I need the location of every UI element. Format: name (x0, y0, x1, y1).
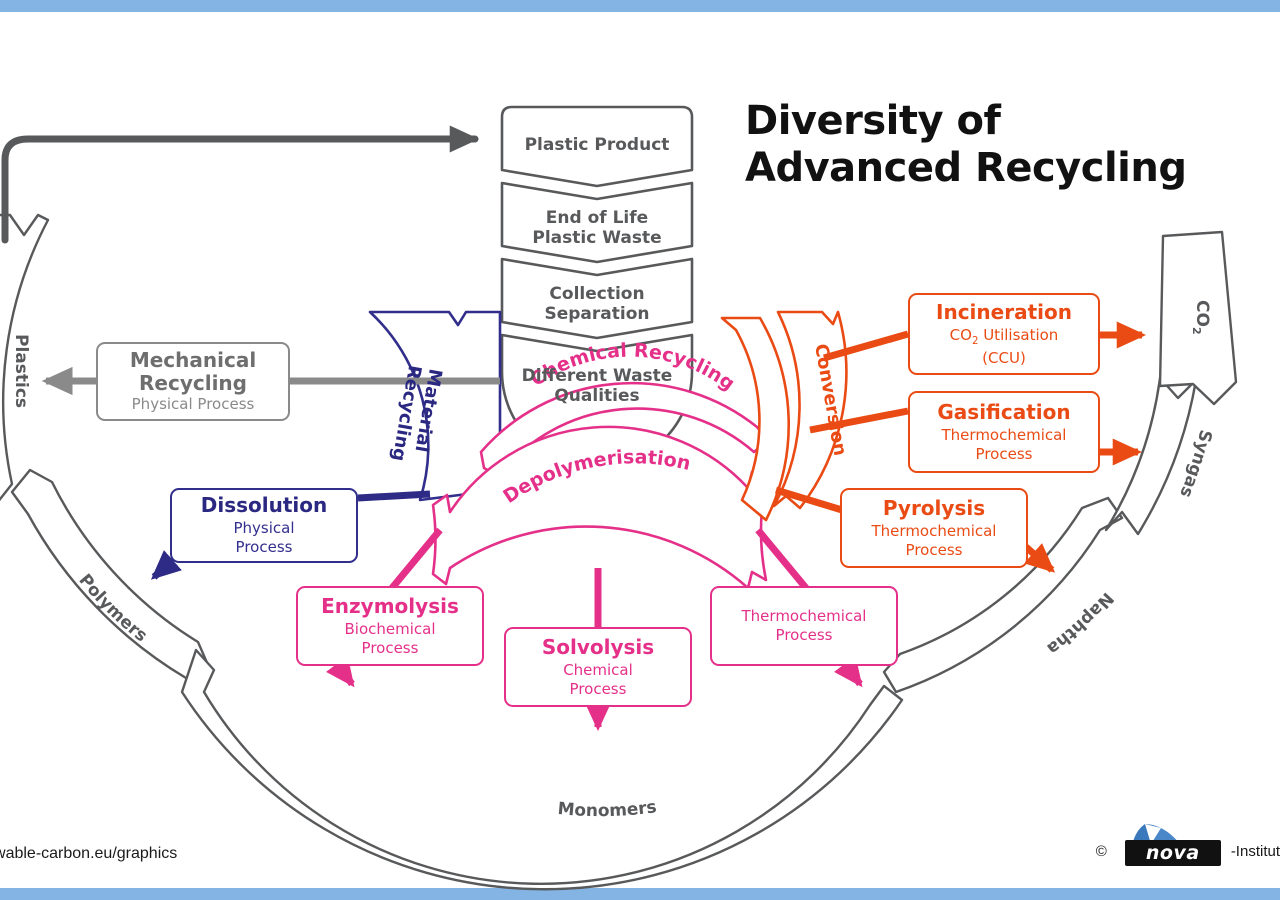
arrow-enzymolysis-to-monomers (337, 664, 352, 684)
arrow-dissolution-to-polymers (154, 561, 172, 577)
gasification-title: Gasification (937, 401, 1070, 423)
incineration-sub: CO2 Utilisation (CCU) (950, 326, 1059, 368)
chevron-collection-separation (502, 259, 692, 338)
box-gasification[interactable]: Gasification Thermochemical Process (908, 391, 1100, 473)
nova-logo-word: nova (1125, 840, 1221, 866)
incineration-title: Incineration (936, 301, 1072, 323)
box-enzymolysis[interactable]: Enzymolysis Biochemical Process (296, 586, 484, 666)
copyright-symbol: © (1096, 843, 1107, 860)
solvolysis-sub: Chemical Process (563, 661, 633, 699)
mechanical-recycling-title-l2: Recycling (130, 372, 256, 394)
box-dissolution[interactable]: Dissolution Physical Process (170, 488, 358, 563)
ring-label-monomers: Monomers (557, 797, 658, 821)
box-incineration[interactable]: Incineration CO2 Utilisation (CCU) (908, 293, 1100, 375)
ring-segment-syngas (1106, 378, 1196, 534)
dissolution-title: Dissolution (201, 494, 328, 516)
box-mechanical-recycling[interactable]: Mechanical Recycling Physical Process (96, 342, 290, 421)
connector-depoly-to-enzymolysis (392, 530, 440, 588)
ring-label-plastics: Plastics (11, 334, 31, 408)
diagram-canvas: Chemical Recycling Depolymerisation Poly… (0, 0, 1280, 900)
pyrolysis-sub: Thermochemical Process (872, 522, 997, 560)
gasification-sub: Thermochemical Process (942, 426, 1067, 464)
page-title: Diversity of Advanced Recycling (745, 98, 1187, 192)
page-title-line1: Diversity of (745, 98, 1187, 145)
nova-logo-suffix: -Institut (1231, 843, 1280, 860)
dissolution-sub: Physical Process (233, 519, 294, 557)
nova-logo: nova (1111, 834, 1227, 868)
mechanical-recycling-title-l1: Mechanical (130, 349, 256, 371)
pyrolysis-title: Pyrolysis (883, 497, 985, 519)
arrow-recycle-to-product (5, 139, 475, 240)
chevron-plastic-product (502, 107, 692, 186)
enzymolysis-title: Enzymolysis (321, 595, 459, 617)
box-pyrolysis[interactable]: Pyrolysis Thermochemical Process (840, 488, 1028, 568)
solvolysis-title: Solvolysis (542, 636, 654, 658)
box-thermochemical-pink[interactable]: Thermochemical Process (710, 586, 898, 666)
connector-material-to-dissolution (358, 494, 430, 498)
arrow-thermochemical-to-monomers (845, 664, 860, 684)
enzymolysis-sub: Biochemical Process (344, 620, 435, 658)
ring-label-naphtha: Naphtha (1043, 588, 1117, 658)
chevron-end-of-life (502, 183, 692, 262)
footer-url[interactable]: renewable-carbon.eu/graphics (0, 845, 177, 863)
mechanical-recycling-sub: Physical Process (132, 396, 255, 414)
thermochemical-pink-sub: Thermochemical Process (742, 607, 867, 645)
page-title-line2: Advanced Recycling (745, 145, 1187, 192)
box-solvolysis[interactable]: Solvolysis Chemical Process (504, 627, 692, 707)
incineration-sub-l1: CO2 Utilisation (950, 326, 1059, 349)
footer-logo: © nova -Institut (1096, 834, 1280, 868)
